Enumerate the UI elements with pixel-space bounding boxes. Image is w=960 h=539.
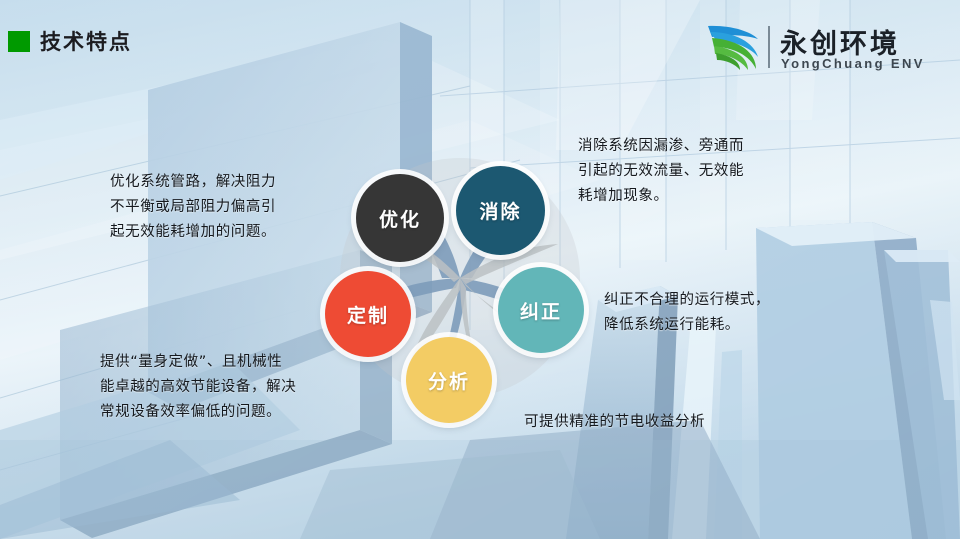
- description-fenxi: 可提供精准的节电收益分析: [524, 410, 804, 435]
- slide-canvas: 技术特点 永创环境 YongChuang ENV: [0, 0, 960, 539]
- page-title: 技术特点: [40, 26, 132, 56]
- description-youhua: 优化系统管路，解决阻力 不平衡或局部阻力偏高引 起无效能耗增加的问题。: [110, 170, 352, 245]
- node-xiaochu[interactable]: 消除: [456, 166, 545, 255]
- node-youhua-label: 优化: [379, 205, 421, 232]
- node-jiuzheng[interactable]: 纠正: [498, 267, 584, 353]
- description-xiaochu: 消除系统因漏渗、旁通而 引起的无效流量、无效能 耗增加现象。: [578, 134, 793, 209]
- yongchuang-swoosh-icon: [706, 23, 760, 71]
- node-fenxi[interactable]: 分析: [406, 337, 492, 423]
- node-xiaochu-label: 消除: [479, 197, 521, 224]
- node-fenxi-label: 分析: [428, 367, 470, 394]
- node-dingzhi-label: 定制: [347, 301, 389, 328]
- green-square-icon: [8, 31, 30, 52]
- description-jiuzheng: 纠正不合理的运行模式， 降低系统运行能耗。: [604, 288, 814, 338]
- logo-divider: [768, 26, 770, 68]
- node-jiuzheng-label: 纠正: [520, 297, 562, 324]
- description-dingzhi: 提供“量身定做”、且机械性 能卓越的高效节能设备，解决 常规设备效率偏低的问题。: [100, 350, 348, 425]
- node-youhua[interactable]: 优化: [356, 174, 444, 262]
- node-dingzhi[interactable]: 定制: [325, 271, 411, 357]
- company-logo: 永创环境 YongChuang ENV: [706, 22, 916, 74]
- logo-name-en: YongChuang ENV: [781, 56, 925, 71]
